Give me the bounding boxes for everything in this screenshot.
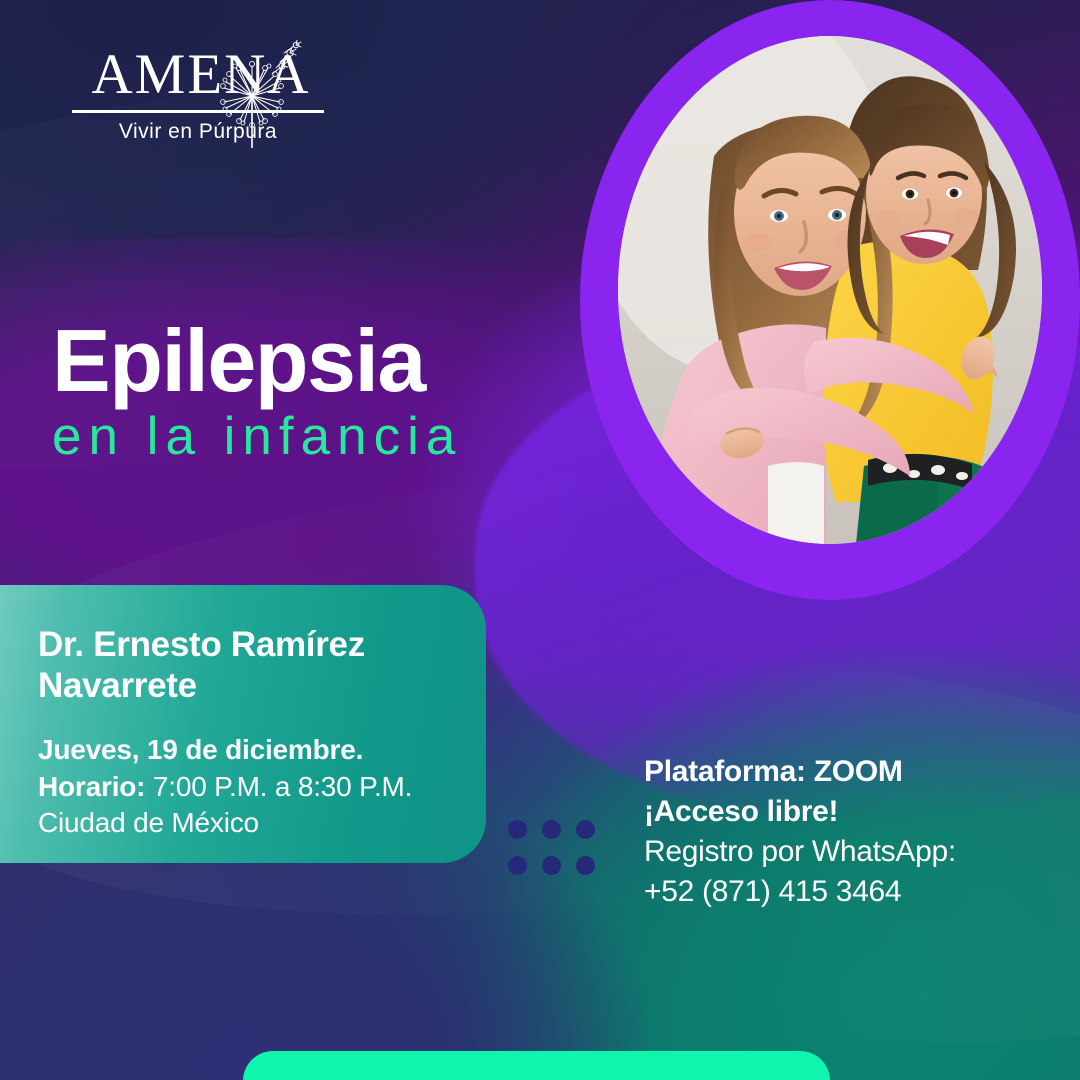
dot xyxy=(542,856,561,875)
registration-line: Registro por WhatsApp: xyxy=(644,832,1044,872)
platform-line: Plataforma: ZOOM xyxy=(644,752,1044,792)
brand-name: AMENA xyxy=(68,46,328,103)
dot xyxy=(576,820,595,839)
dot xyxy=(542,820,561,839)
dot xyxy=(508,856,527,875)
event-location: Ciudad de México xyxy=(38,805,452,841)
title-subtitle: en la infancia xyxy=(52,408,572,465)
event-schedule: Horario: 7:00 P.M. a 8:30 P.M. xyxy=(38,769,452,805)
promo-poster: AMENA Vivir en Púrpura Epilepsia en la i… xyxy=(0,0,1080,1080)
bottom-accent-bar xyxy=(243,1051,830,1080)
dot xyxy=(576,856,595,875)
schedule-label: Horario: xyxy=(38,771,145,802)
phone-number[interactable]: +52 (871) 415 3464 xyxy=(644,872,1044,912)
dot-grid-decoration xyxy=(508,820,610,892)
speaker-name-line2: Navarrete xyxy=(38,666,197,705)
photo-mother-and-daughter xyxy=(618,36,1042,544)
dot xyxy=(508,820,527,839)
speaker-name: Dr. Ernesto Ramírez Navarrete xyxy=(38,625,452,706)
event-details: Jueves, 19 de diciembre. Horario: 7:00 P… xyxy=(38,732,452,841)
speaker-name-line1: Dr. Ernesto Ramírez xyxy=(38,625,365,664)
event-date: Jueves, 19 de diciembre. xyxy=(38,732,452,768)
access-info: Plataforma: ZOOM ¡Acceso libre! Registro… xyxy=(644,752,1044,912)
speaker-card: Dr. Ernesto Ramírez Navarrete Jueves, 19… xyxy=(0,585,486,863)
brand-logo: AMENA Vivir en Púrpura xyxy=(68,46,328,144)
schedule-value: 7:00 P.M. a 8:30 P.M. xyxy=(145,771,412,802)
title-main: Epilepsia xyxy=(52,318,572,404)
poster-title: Epilepsia en la infancia xyxy=(52,318,572,465)
access-line: ¡Acceso libre! xyxy=(644,792,1044,832)
